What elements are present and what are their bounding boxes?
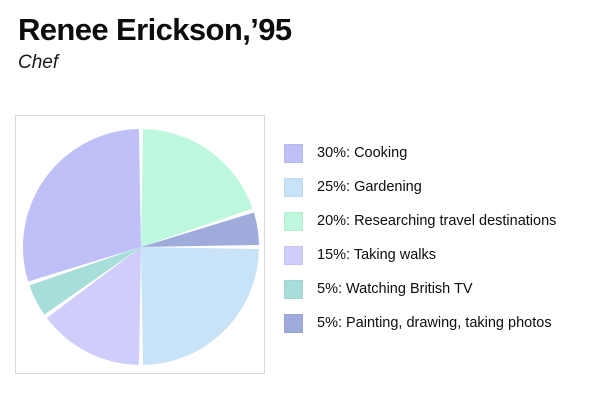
legend-item[interactable]: 30%: Cooking: [284, 136, 596, 170]
legend-swatch-icon: [284, 144, 303, 163]
header: Renee Erickson,’95 Chef: [18, 14, 578, 72]
legend-item[interactable]: 5%: Watching British TV: [284, 272, 596, 306]
pie-chart: [16, 116, 266, 375]
legend-item-label: 15%: Taking walks: [317, 248, 436, 263]
chart-legend: 30%: Cooking 25%: Gardening 20%: Researc…: [284, 136, 596, 340]
pie-chart-frame: [15, 115, 265, 374]
legend-swatch-icon: [284, 314, 303, 333]
page-subtitle: Chef: [18, 53, 578, 73]
legend-item-label: 5%: Watching British TV: [317, 282, 473, 297]
legend-swatch-icon: [284, 280, 303, 299]
legend-item-label: 30%: Cooking: [317, 146, 407, 161]
legend-swatch-icon: [284, 246, 303, 265]
legend-item-label: 25%: Gardening: [317, 180, 422, 195]
legend-item-label: 20%: Researching travel destinations: [317, 214, 556, 229]
legend-item[interactable]: 5%: Painting, drawing, taking photos: [284, 306, 596, 340]
legend-swatch-icon: [284, 212, 303, 231]
legend-item[interactable]: 25%: Gardening: [284, 170, 596, 204]
page-title: Renee Erickson,’95: [18, 14, 578, 47]
legend-swatch-icon: [284, 178, 303, 197]
legend-item[interactable]: 15%: Taking walks: [284, 238, 596, 272]
legend-item[interactable]: 20%: Researching travel destinations: [284, 204, 596, 238]
legend-item-label: 5%: Painting, drawing, taking photos: [317, 316, 552, 331]
pie-slice[interactable]: [141, 247, 259, 365]
